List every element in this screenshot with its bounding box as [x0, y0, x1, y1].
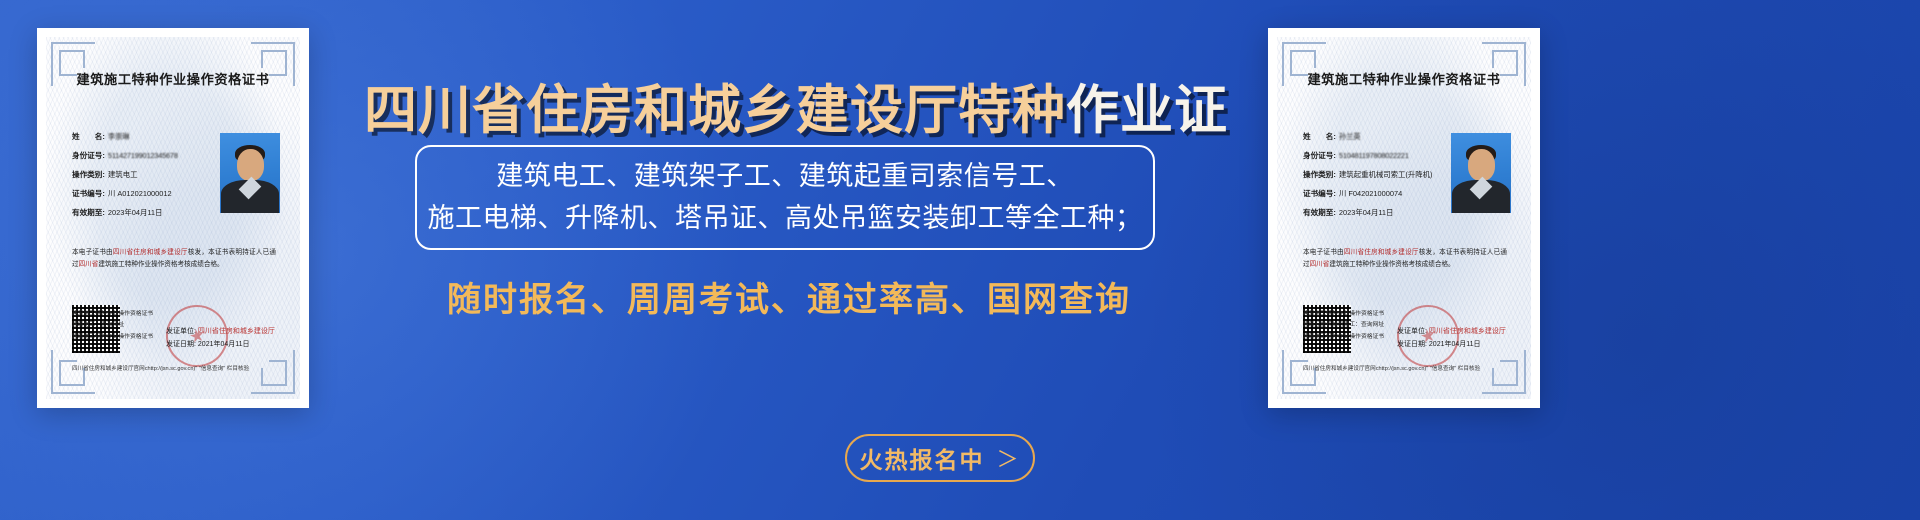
- statement-province: 四川省: [79, 261, 99, 268]
- enroll-now-button[interactable]: 火热报名中 ＞: [845, 434, 1035, 482]
- statement-issuer: 四川省住房和城乡建设厅: [113, 249, 188, 256]
- certificate-card-right: 建筑施工特种作业操作资格证书 姓 名: 孙兰英 身份证号: 5104811978…: [1268, 28, 1540, 408]
- field-label: 操作类别:: [72, 171, 105, 179]
- field-label: 姓 名:: [72, 133, 105, 141]
- certificate-inner-right: 建筑施工特种作业操作资格证书 姓 名: 孙兰英 身份证号: 5104811978…: [1277, 37, 1531, 399]
- statement-tail: 建筑施工特种作业操作资格考核成绩合格。: [98, 261, 223, 268]
- issue-date-label: 发证日期:: [166, 341, 196, 348]
- field-label: 姓 名:: [1303, 133, 1336, 141]
- note-line: 建筑施工特种作业操作资格证书: [1303, 332, 1384, 343]
- certificate-issuer-block: 发证单位: 四川省住房和城乡建设厅 发证日期: 2021年04月11日: [166, 325, 275, 352]
- field-row-name: 姓 名: 李崇琳: [72, 133, 222, 141]
- field-label: 证书编号:: [1303, 190, 1336, 198]
- enroll-now-label: 火热报名中: [859, 441, 984, 475]
- field-label: 身份证号:: [1303, 152, 1336, 160]
- field-row-certificate-number: 证书编号: 川 F042021000074: [1303, 190, 1453, 198]
- specialty-line-2: 施工电梯、升降机、塔吊证、高处吊篮安装卸工等全工种；: [428, 198, 1143, 239]
- field-value: 李崇琳: [108, 133, 130, 141]
- certificate-portrait-photo: [220, 133, 280, 213]
- promo-banner: 建筑施工特种作业操作资格证书 姓 名: 李崇琳 身份证号: 5114271990…: [0, 0, 1920, 520]
- field-value: 510481197808022221: [1339, 152, 1409, 160]
- chevron-right-icon: ＞: [996, 442, 1020, 474]
- issue-date-value: 2021年04月11日: [198, 341, 250, 348]
- field-value: 2023年04月11日: [108, 209, 163, 217]
- field-value: 建筑电工: [108, 171, 138, 179]
- certificate-inner-left: 建筑施工特种作业操作资格证书 姓 名: 李崇琳 身份证号: 5114271990…: [46, 37, 300, 399]
- issuer-row: 发证单位: 四川省住房和城乡建设厅: [166, 325, 275, 338]
- statement-tail: 建筑施工特种作业操作资格考核成绩合格。: [1329, 261, 1454, 268]
- note-line: 建筑施工特种作业操作资格证书: [1303, 309, 1384, 320]
- note-line: 建筑施工特种作业操作资格证书: [72, 332, 153, 343]
- certificate-statement: 本电子证书由四川省住房和城乡建设厅核发，本证书表明持证人已通过四川省建筑施工特种…: [72, 247, 276, 271]
- field-label: 有效期至:: [72, 209, 105, 217]
- issue-date-row: 发证日期: 2021年04月11日: [166, 338, 275, 351]
- certificate-statement: 本电子证书由四川省住房和城乡建设厅核发，本证书表明持证人已通过四川省建筑施工特种…: [1303, 247, 1507, 271]
- specialty-line-1: 建筑电工、建筑架子工、建筑起重司索信号工、: [496, 156, 1074, 197]
- banner-headline: 四川省住房和城乡建设厅特种作业证: [364, 68, 1214, 144]
- field-row-category: 操作类别: 建筑起重机械司索工(升降机): [1303, 171, 1453, 179]
- certificate-title: 建筑施工特种作业操作资格证书: [1277, 69, 1531, 88]
- certificate-card-left: 建筑施工特种作业操作资格证书 姓 名: 李崇琳 身份证号: 5114271990…: [37, 28, 309, 408]
- certificate-portrait-photo: [1451, 133, 1511, 213]
- specialty-list-box: 建筑电工、建筑架子工、建筑起重司索信号工、 施工电梯、升降机、塔吊证、高处吊篮安…: [415, 145, 1155, 250]
- field-value: 建筑起重机械司索工(升降机): [1339, 171, 1433, 179]
- issuer-row: 发证单位: 四川省住房和城乡建设厅: [1397, 325, 1506, 338]
- certificate-legal-footer: 四川省住房和城乡建设厅官网chttp://jsn.sc.gov.cn)" "信息…: [1303, 365, 1509, 373]
- certificate-notes: 建筑施工特种作业操作资格证书 建筑电工：查询网址 建筑施工特种作业操作资格证书: [72, 309, 153, 343]
- field-value: 孙兰英: [1339, 133, 1361, 141]
- field-label: 操作类别:: [1303, 171, 1336, 179]
- note-line: 建筑施工特种作业操作资格证书: [72, 309, 153, 320]
- field-value: 川 F042021000074: [1339, 190, 1402, 198]
- headline-white-text: 作业证: [1066, 80, 1228, 141]
- field-row-id-number: 身份证号: 511427199012345678: [72, 152, 222, 160]
- certificate-fields: 姓 名: 孙兰英 身份证号: 510481197808022221 操作类别: …: [1303, 133, 1453, 228]
- note-line: 建筑电工：查询网址: [72, 320, 153, 331]
- field-row-id-number: 身份证号: 510481197808022221: [1303, 152, 1453, 160]
- banner-slogan: 随时报名、周周考试、通过率高、国网查询: [364, 272, 1214, 321]
- statement-prefix: 本电子证书由: [1303, 249, 1344, 256]
- field-label: 有效期至:: [1303, 209, 1336, 217]
- issue-date-row: 发证日期: 2021年04月11日: [1397, 338, 1506, 351]
- issuer-label: 发证单位:: [166, 328, 196, 335]
- issuer-value: 四川省住房和城乡建设厅: [1429, 328, 1506, 335]
- certificate-notes: 建筑施工特种作业操作资格证书 建筑起重机械司索工：查询网址 建筑施工特种作业操作…: [1303, 309, 1384, 343]
- field-row-valid-until: 有效期至: 2023年04月11日: [72, 209, 222, 217]
- field-row-certificate-number: 证书编号: 川 A012021000012: [72, 190, 222, 198]
- field-row-valid-until: 有效期至: 2023年04月11日: [1303, 209, 1453, 217]
- field-row-name: 姓 名: 孙兰英: [1303, 133, 1453, 141]
- field-label: 证书编号:: [72, 190, 105, 198]
- field-value: 2023年04月11日: [1339, 209, 1394, 217]
- statement-issuer: 四川省住房和城乡建设厅: [1344, 249, 1419, 256]
- field-value: 川 A012021000012: [108, 190, 172, 198]
- issuer-label: 发证单位:: [1397, 328, 1427, 335]
- certificate-legal-footer: 四川省住房和城乡建设厅官网chttp://jsn.sc.gov.cn)" "信息…: [72, 365, 278, 373]
- field-value: 511427199012345678: [108, 152, 178, 160]
- issue-date-value: 2021年04月11日: [1429, 341, 1481, 348]
- statement-prefix: 本电子证书由: [72, 249, 113, 256]
- statement-province: 四川省: [1310, 261, 1330, 268]
- issue-date-label: 发证日期:: [1397, 341, 1427, 348]
- field-row-category: 操作类别: 建筑电工: [72, 171, 222, 179]
- certificate-title: 建筑施工特种作业操作资格证书: [46, 69, 300, 88]
- certificate-fields: 姓 名: 李崇琳 身份证号: 511427199012345678 操作类别: …: [72, 133, 222, 228]
- field-label: 身份证号:: [72, 152, 105, 160]
- certificate-issuer-block: 发证单位: 四川省住房和城乡建设厅 发证日期: 2021年04月11日: [1397, 325, 1506, 352]
- issuer-value: 四川省住房和城乡建设厅: [198, 328, 275, 335]
- note-line: 建筑起重机械司索工：查询网址: [1303, 320, 1384, 331]
- headline-orange-text: 四川省住房和城乡建设厅特种: [364, 80, 1066, 141]
